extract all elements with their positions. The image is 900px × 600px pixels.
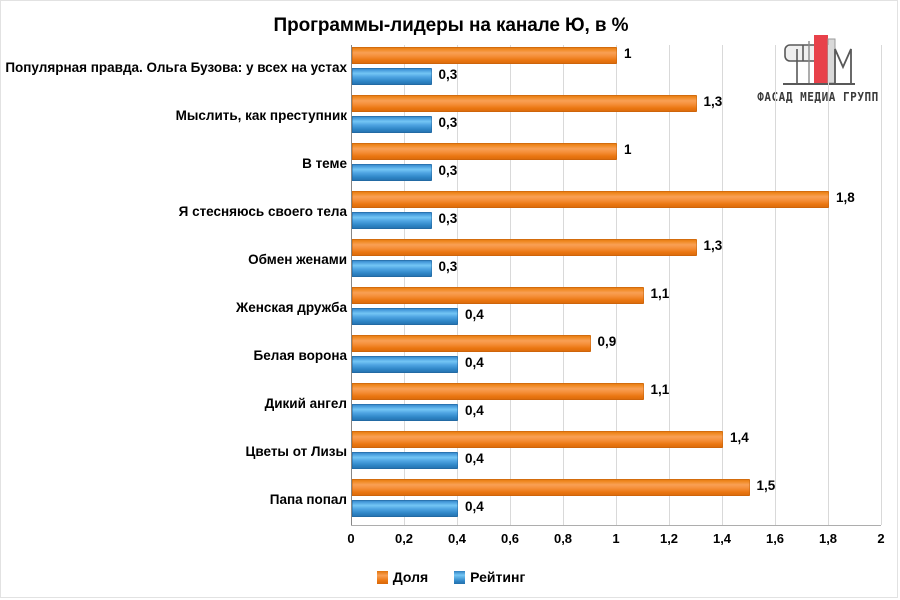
bar-group: 1,10,4: [351, 285, 881, 333]
bar-group: 1,50,4: [351, 477, 881, 525]
bar-dolya[interactable]: [352, 143, 617, 160]
bar-dolya[interactable]: [352, 239, 697, 256]
bar-value-label-reyting: 0,3: [439, 211, 458, 226]
x-tick-label: 0,4: [448, 531, 466, 546]
bar-group: 0,90,4: [351, 333, 881, 381]
bar-value-label-dolya: 1: [624, 142, 632, 157]
bar-dolya[interactable]: [352, 191, 829, 208]
x-tick-label: 1,6: [766, 531, 784, 546]
bar-reyting[interactable]: [352, 260, 432, 277]
x-tick-label: 1,4: [713, 531, 731, 546]
bar-reyting[interactable]: [352, 116, 432, 133]
legend-swatch-icon: [377, 571, 388, 584]
bar-reyting[interactable]: [352, 212, 432, 229]
bar-group: 1,40,4: [351, 429, 881, 477]
x-tick-label: 1: [612, 531, 619, 546]
x-tick-label: 1,8: [819, 531, 837, 546]
value-axis-line: [351, 45, 352, 525]
category-axis-line: [351, 525, 881, 526]
bar-reyting[interactable]: [352, 68, 432, 85]
category-label: Я стесняюсь своего тела: [1, 204, 347, 219]
gridline: [881, 45, 882, 525]
x-tick-label: 0,6: [501, 531, 519, 546]
bar-reyting[interactable]: [352, 500, 458, 517]
category-label: Дикий ангел: [1, 396, 347, 411]
bar-group: 10,3: [351, 141, 881, 189]
category-label: Цветы от Лизы: [1, 444, 347, 459]
bar-dolya[interactable]: [352, 287, 644, 304]
legend-item-reyting[interactable]: Рейтинг: [454, 569, 525, 585]
bar-value-label-reyting: 0,3: [439, 259, 458, 274]
legend-label: Рейтинг: [470, 569, 525, 585]
bar-value-label-reyting: 0,3: [439, 67, 458, 82]
bar-value-label-dolya: 1,8: [836, 190, 855, 205]
x-tick-label: 1,2: [660, 531, 678, 546]
bar-dolya[interactable]: [352, 383, 644, 400]
category-label: Мыслить, как преступник: [1, 108, 347, 123]
bar-reyting[interactable]: [352, 308, 458, 325]
bar-dolya[interactable]: [352, 335, 591, 352]
chart-legend: ДоляРейтинг: [1, 569, 900, 585]
category-label: Обмен женами: [1, 252, 347, 267]
category-label: В теме: [1, 156, 347, 171]
bar-reyting[interactable]: [352, 356, 458, 373]
bar-value-label-reyting: 0,4: [465, 307, 484, 322]
bar-value-label-reyting: 0,4: [465, 499, 484, 514]
bar-dolya[interactable]: [352, 431, 723, 448]
x-tick-label: 0,8: [554, 531, 572, 546]
bar-value-label-reyting: 0,4: [465, 355, 484, 370]
bar-value-label-reyting: 0,3: [439, 163, 458, 178]
bar-group: 1,80,3: [351, 189, 881, 237]
legend-item-dolya[interactable]: Доля: [377, 569, 428, 585]
bar-reyting[interactable]: [352, 164, 432, 181]
category-axis-labels: Популярная правда. Ольга Бузова: у всех …: [1, 45, 347, 525]
bar-group: 1,30,3: [351, 237, 881, 285]
bar-value-label-dolya: 1: [624, 46, 632, 61]
category-label: Женская дружба: [1, 300, 347, 315]
x-tick-label: 0,2: [395, 531, 413, 546]
bar-dolya[interactable]: [352, 95, 697, 112]
category-label: Белая ворона: [1, 348, 347, 363]
bar-group: 1,10,4: [351, 381, 881, 429]
bar-dolya[interactable]: [352, 479, 750, 496]
bar-value-label-dolya: 1,1: [651, 286, 670, 301]
bar-reyting[interactable]: [352, 404, 458, 421]
legend-swatch-icon: [454, 571, 465, 584]
category-label: Папа попал: [1, 492, 347, 507]
bar-value-label-reyting: 0,4: [465, 403, 484, 418]
category-label: Популярная правда. Ольга Бузова: у всех …: [1, 60, 347, 75]
bar-value-label-dolya: 0,9: [598, 334, 617, 349]
bar-value-label-dolya: 1,5: [757, 478, 776, 493]
bar-value-label-reyting: 0,3: [439, 115, 458, 130]
bar-value-label-dolya: 1,4: [730, 430, 749, 445]
bar-group: 10,3: [351, 45, 881, 93]
plot-area: 10,31,30,310,31,80,31,30,31,10,40,90,41,…: [351, 45, 881, 525]
bar-value-label-dolya: 1,1: [651, 382, 670, 397]
x-tick-label: 0: [347, 531, 354, 546]
bar-dolya[interactable]: [352, 47, 617, 64]
legend-label: Доля: [393, 569, 428, 585]
bar-value-label-dolya: 1,3: [704, 238, 723, 253]
chart-container: Программы-лидеры на канале Ю, в % ФАСАД …: [0, 0, 898, 598]
bar-value-label-dolya: 1,3: [704, 94, 723, 109]
bar-value-label-reyting: 0,4: [465, 451, 484, 466]
x-tick-label: 2: [877, 531, 884, 546]
bar-reyting[interactable]: [352, 452, 458, 469]
bar-group: 1,30,3: [351, 93, 881, 141]
